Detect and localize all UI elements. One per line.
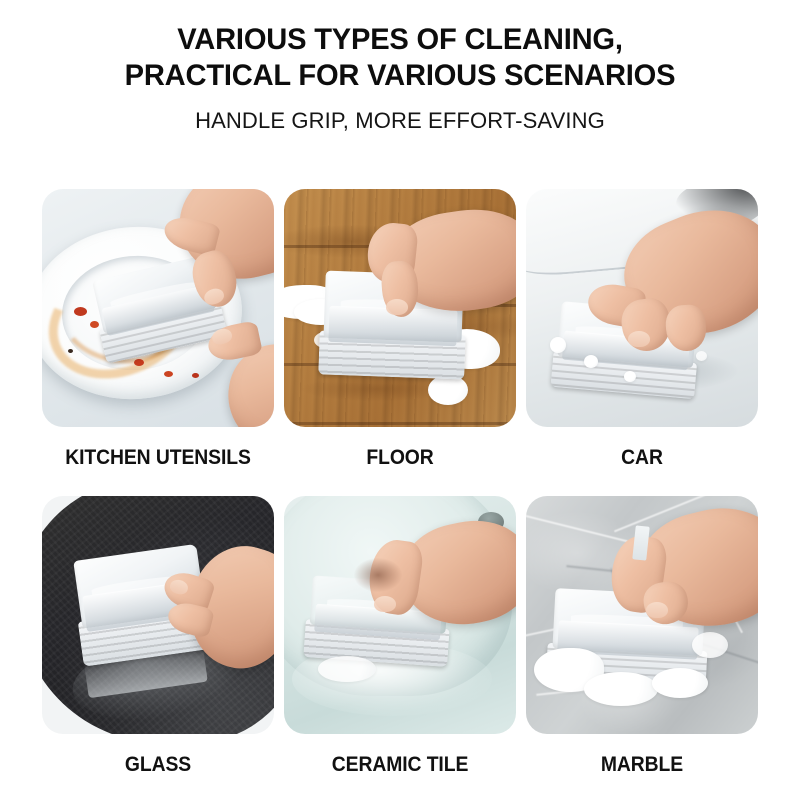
hand bbox=[362, 502, 516, 660]
scenario-cell-marble: MARBLE bbox=[526, 496, 758, 794]
scenario-image-kitchen-utensils bbox=[42, 189, 274, 427]
fingernail bbox=[646, 602, 668, 618]
finger-ring bbox=[664, 304, 707, 353]
scenario-cell-ceramic-tile: CERAMIC TILE bbox=[284, 496, 516, 794]
sauce-spot bbox=[164, 371, 173, 377]
fingernail bbox=[374, 596, 396, 612]
scenario-image-glass bbox=[42, 496, 274, 734]
scenario-label-glass: GLASS bbox=[54, 734, 263, 794]
sauce-spot bbox=[134, 359, 144, 366]
scenario-cell-kitchen-utensils: KITCHEN UTENSILS bbox=[42, 189, 274, 487]
hand bbox=[582, 203, 758, 373]
hand bbox=[160, 528, 274, 678]
scenario-label-car: CAR bbox=[538, 427, 747, 487]
scenario-cell-glass: GLASS bbox=[42, 496, 274, 794]
product-infographic: VARIOUS TYPES OF CLEANING, PRACTICAL FOR… bbox=[0, 0, 800, 800]
headline-line-1: VARIOUS TYPES OF CLEANING, bbox=[12, 22, 788, 58]
subtitle: HANDLE GRIP, MORE EFFORT-SAVING bbox=[8, 108, 792, 134]
sauce-spot bbox=[192, 373, 199, 378]
headline-line-2: PRACTICAL FOR VARIOUS SCENARIOS bbox=[12, 58, 788, 94]
scenario-image-floor bbox=[284, 189, 516, 427]
fingernail bbox=[386, 299, 408, 315]
foam-blob bbox=[428, 375, 468, 405]
scenario-image-ceramic-tile bbox=[284, 496, 516, 734]
scenario-label-ceramic-tile: CERAMIC TILE bbox=[296, 734, 505, 794]
scenario-grid: KITCHEN UTENSILS bbox=[42, 189, 758, 794]
foam-blob bbox=[652, 668, 708, 698]
hand-lower bbox=[202, 309, 274, 427]
scenario-cell-car: CAR bbox=[526, 189, 758, 487]
scenario-label-floor: FLOOR bbox=[296, 427, 505, 487]
scenario-image-marble bbox=[526, 496, 758, 734]
sauce-spot bbox=[68, 349, 73, 353]
hand bbox=[358, 195, 516, 345]
foam-blob bbox=[584, 672, 658, 706]
scenario-label-marble: MARBLE bbox=[538, 734, 747, 794]
fingernail bbox=[628, 331, 650, 347]
heading-block: VARIOUS TYPES OF CLEANING, PRACTICAL FOR… bbox=[0, 22, 800, 134]
scenario-image-car bbox=[526, 189, 758, 427]
sauce-spot bbox=[74, 307, 87, 316]
shadow-under-finger bbox=[354, 558, 402, 592]
scenario-label-kitchen-utensils: KITCHEN UTENSILS bbox=[54, 427, 263, 487]
hand bbox=[600, 498, 758, 662]
foam-bead bbox=[550, 337, 566, 353]
scenario-cell-floor: FLOOR bbox=[284, 189, 516, 487]
